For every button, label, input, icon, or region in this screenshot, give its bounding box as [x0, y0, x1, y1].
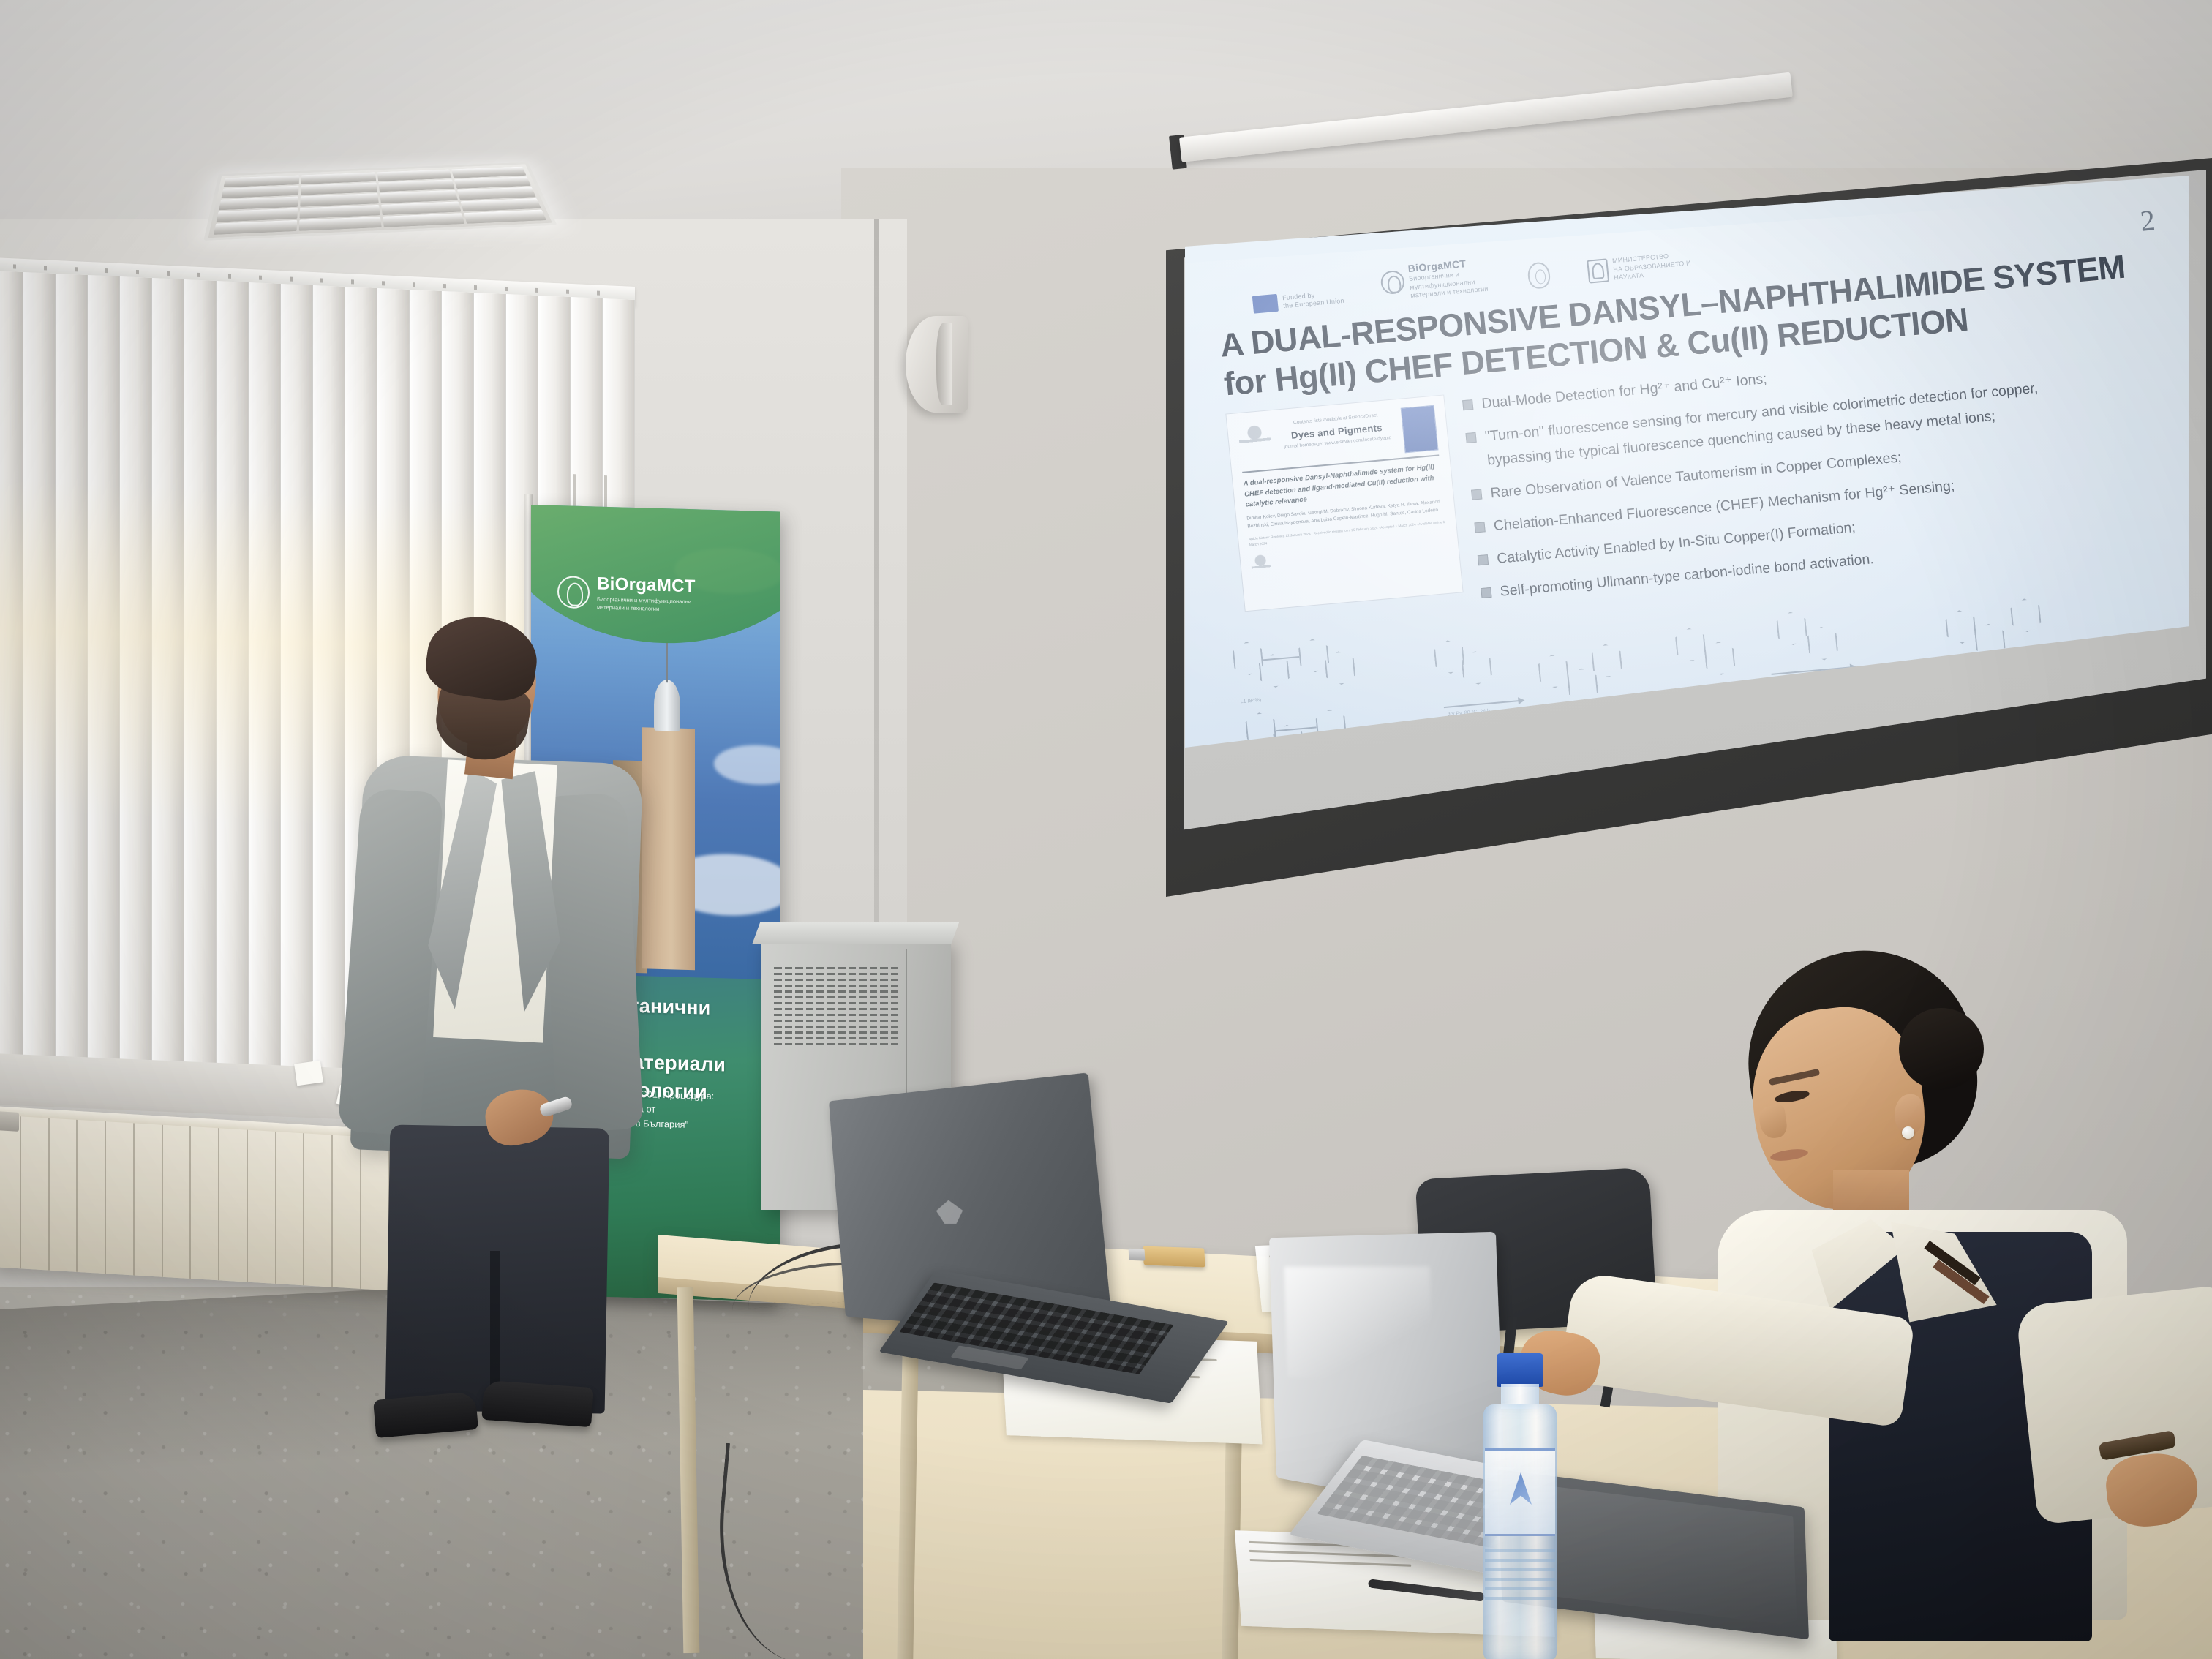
bullet-square-icon — [1481, 587, 1491, 598]
ministry-of-education-logo: МИНИСТЕРСТВО НА ОБРАЗОВАНИЕТО И НАУКАТА — [1587, 250, 1695, 284]
bottle-ridges — [1485, 1549, 1555, 1602]
cabinet-vents — [774, 967, 898, 1047]
biorgamct-logo-text: BiOrgaMCT Биоорганични и мултифункционал… — [1407, 255, 1491, 300]
ministry-logo-text: МИНИСТЕРСТВО НА ОБРАЗОВАНИЕТО И НАУКАТА — [1612, 250, 1695, 282]
wall-note — [294, 1061, 323, 1086]
eu-flag-icon — [1252, 294, 1279, 314]
presenter — [344, 622, 651, 1448]
bullet-square-icon — [1465, 432, 1476, 443]
cabinet-top — [753, 922, 960, 944]
university-crest-icon — [1527, 261, 1551, 289]
bullet-square-icon — [1478, 554, 1489, 565]
bullet-square-icon — [1474, 522, 1485, 533]
wall-speaker-icon — [906, 316, 968, 413]
light-grille — [214, 167, 546, 235]
pearl-earring — [1902, 1126, 1914, 1139]
bottle-label — [1485, 1448, 1555, 1536]
biorgamct-logo: BiOrgaMCT Биоорганични и мултифункционал… — [1379, 255, 1491, 302]
journal-article-card: Contents lists available at ScienceDirec… — [1225, 395, 1463, 612]
banner-logo: BiOrgaMCT Биоорганични и мултифункционал… — [557, 573, 707, 614]
usb-flash-drive[interactable] — [1143, 1246, 1205, 1267]
eu-logo-text: Funded by the European Union — [1282, 289, 1345, 311]
banner-logo-name: BiOrgaMCT — [597, 574, 696, 597]
biorgamct-mark-icon — [1380, 270, 1405, 296]
dark-laptop[interactable] — [827, 1097, 1236, 1361]
doi-badge-icon — [1250, 552, 1271, 574]
bottle-cap[interactable] — [1497, 1353, 1543, 1387]
bullet-square-icon — [1471, 489, 1482, 500]
conference-room-scene: Funded by the European Union BiOrgaMCT Б… — [0, 0, 2212, 1659]
attendee-hair-bun — [1899, 1008, 1984, 1090]
radiator-valve[interactable] — [0, 1111, 19, 1132]
banner-logo-sub: Биоорганични и мултифункционални материа… — [597, 596, 707, 615]
university-crest-logo — [1527, 261, 1551, 289]
journal-cover-thumbnail — [1401, 405, 1439, 454]
elsevier-logo-icon — [1238, 420, 1274, 458]
presenter-shoe-right — [481, 1380, 593, 1427]
presenter-right-arm — [540, 792, 644, 1133]
screen-reflection — [1284, 1266, 1434, 1391]
bullet-square-icon — [1462, 399, 1473, 410]
laptop-brand-logo-icon — [936, 1200, 964, 1224]
eu-funding-logo: Funded by the European Union — [1252, 288, 1345, 314]
biorgamct-logo-icon — [557, 576, 590, 609]
scheme-label: L1 (84%) — [1241, 698, 1262, 704]
ministry-mark-icon — [1587, 258, 1609, 283]
presenter-shoe-left — [373, 1391, 478, 1438]
water-bottle[interactable] — [1478, 1353, 1564, 1659]
laptop-keyboard[interactable] — [899, 1282, 1173, 1374]
